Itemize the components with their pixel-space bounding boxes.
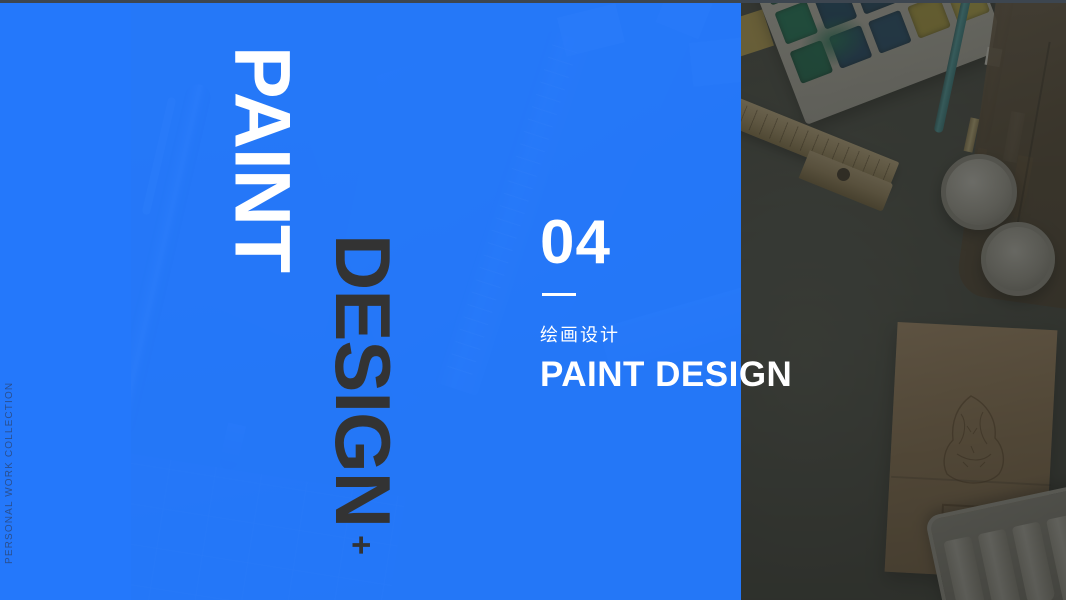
left-blue-band [0,0,131,600]
credit-line-author: ZHANG XIAN [0,382,2,564]
section-title-en: PAINT DESIGN [540,355,792,395]
vertical-word-design: DESIGN+ [326,234,398,555]
top-edge-strip [0,0,1066,3]
vertical-word-plus: + [342,535,380,555]
credit-line-collection: PERSONAL WORK COLLECTION [3,382,16,564]
section-info-block: 04 绘画设计 PAINT DESIGN [540,212,792,395]
section-number: 04 [540,212,792,274]
credit-block: PERSONAL WORK COLLECTION ZHANG XIAN [0,382,16,564]
section-divider-rule [542,293,576,296]
vertical-word-design-text: DESIGN [319,234,407,527]
presentation-slide: PERSONAL WORK COLLECTION ZHANG XIAN PAIN… [0,0,1066,600]
vertical-word-paint: PAINT [226,46,299,272]
section-subtitle-cn: 绘画设计 [540,323,792,347]
